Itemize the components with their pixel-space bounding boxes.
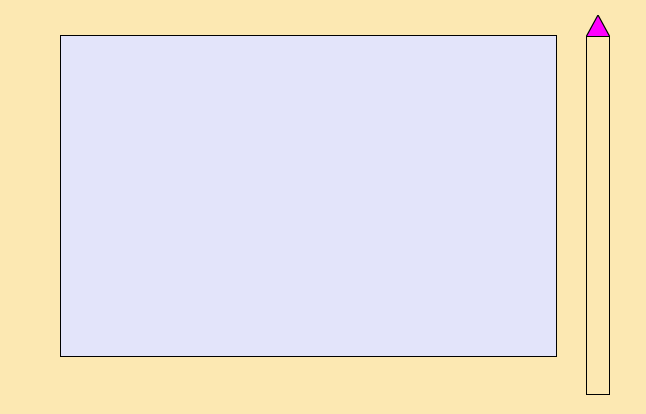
figure-canvas — [0, 0, 646, 414]
tsunami-heatmap — [61, 36, 557, 357]
colorbar-over-arrow-icon — [586, 15, 610, 37]
colorbar[interactable] — [586, 10, 646, 390]
map-axes[interactable] — [60, 35, 557, 357]
colorbar-gradient — [586, 36, 610, 395]
